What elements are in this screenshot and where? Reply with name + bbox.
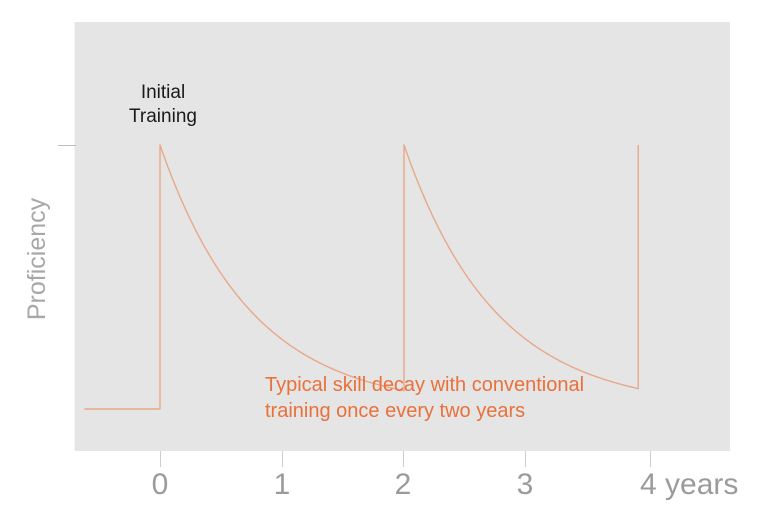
initial-training-line-2: Training [108, 105, 218, 129]
x-axis-tick-1 [282, 451, 283, 467]
y-axis-title: Proficiency [23, 179, 51, 339]
skill-decay-line-1: Typical skill decay with conventional [265, 372, 665, 398]
initial-training-callout: Initial Training [108, 81, 218, 129]
x-axis-tick-2 [403, 451, 404, 467]
x-axis-label-1: 1 [274, 467, 291, 503]
y-axis-spine [74, 22, 75, 451]
x-axis-tick-3 [525, 451, 526, 467]
skill-decay-line-2: training once every two years [265, 398, 665, 424]
x-axis-tick-4 [650, 451, 651, 467]
x-axis-label-4: 4 years [640, 467, 738, 503]
initial-training-line-1: Initial [108, 81, 218, 105]
x-axis-label-3: 3 [517, 467, 534, 503]
skill-decay-annotation: Typical skill decay with conventional tr… [265, 372, 665, 424]
skill-decay-chart: 0 1 2 3 4 years Proficiency Initial Trai… [0, 0, 768, 513]
x-axis-label-2: 2 [395, 467, 412, 503]
x-axis-tick-0 [160, 451, 161, 467]
y-axis-tick-max [58, 145, 76, 146]
x-axis-label-0: 0 [152, 467, 169, 503]
